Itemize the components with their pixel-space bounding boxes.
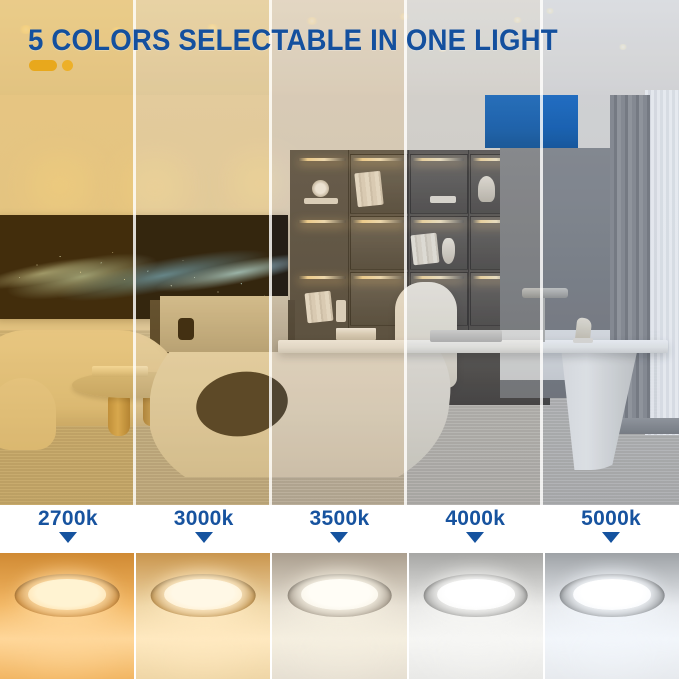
band-lift: [272, 0, 408, 505]
room-scene: 5 COLORS SELECTABLE IN ONE LIGHT: [0, 0, 679, 505]
pointer-triangle-icon: [602, 532, 620, 543]
scene-band-3: [407, 0, 543, 505]
product-infographic: 5 COLORS SELECTABLE IN ONE LIGHT 2700k 3…: [0, 0, 679, 679]
temperature-label-4000k: 4000k: [407, 505, 543, 553]
page-title: 5 COLORS SELECTABLE IN ONE LIGHT: [28, 24, 558, 58]
accent-dot-icon: [62, 60, 73, 71]
fixture-sample-4000k: [409, 553, 543, 679]
fixture-lens: [437, 579, 515, 609]
fixture-sample-strip: [0, 553, 679, 679]
band-lift: [407, 0, 543, 505]
fixture-lens: [164, 579, 242, 609]
temperature-label-5000k: 5000k: [543, 505, 679, 553]
accent-mark: [29, 60, 73, 71]
scene-band-2: [272, 0, 408, 505]
fixture-sample-3500k: [272, 553, 406, 679]
pointer-triangle-icon: [466, 532, 484, 543]
accent-pill-icon: [29, 60, 57, 71]
pointer-triangle-icon: [195, 532, 213, 543]
temperature-label-3500k: 3500k: [272, 505, 408, 553]
scene-band-1: [136, 0, 272, 505]
temperature-label-3000k: 3000k: [136, 505, 272, 553]
fixture-lens: [301, 579, 379, 609]
temperature-label-text: 3000k: [174, 507, 234, 531]
pointer-triangle-icon: [59, 532, 77, 543]
fixture-sample-5000k: [545, 553, 679, 679]
fixture-sample-3000k: [136, 553, 270, 679]
temperature-label-2700k: 2700k: [0, 505, 136, 553]
band-lift: [0, 0, 136, 505]
color-temperature-bands: [0, 0, 679, 505]
fixture-sample-2700k: [0, 553, 134, 679]
temperature-label-text: 3500k: [310, 507, 370, 531]
temperature-label-text: 2700k: [38, 507, 98, 531]
scene-band-0: [0, 0, 136, 505]
temperature-label-text: 4000k: [445, 507, 505, 531]
fixture-lens: [573, 579, 651, 609]
pointer-triangle-icon: [330, 532, 348, 543]
fixture-lens: [28, 579, 106, 609]
temperature-label-strip: 2700k 3000k 3500k 4000k 5000k: [0, 505, 679, 553]
temperature-label-text: 5000k: [581, 507, 641, 531]
scene-band-4: [543, 0, 679, 505]
band-lift: [136, 0, 272, 505]
band-lift: [543, 0, 679, 505]
